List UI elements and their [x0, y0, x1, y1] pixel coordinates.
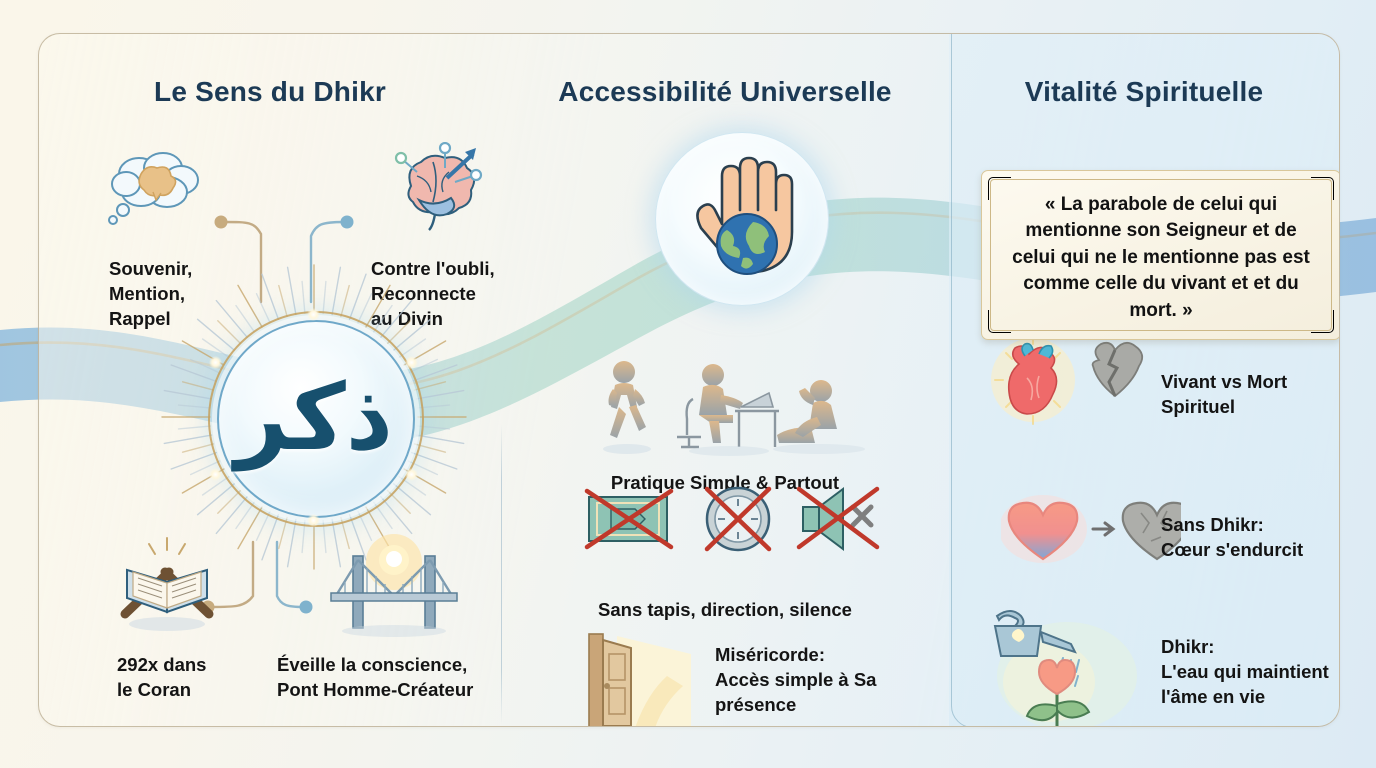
column-sens-du-dhikr: Le Sens du Dhikr — [39, 34, 501, 726]
quran-book-stand-icon — [115, 534, 219, 638]
item-label-sans-dhikr: Sans Dhikr: Cœur s'endurcit — [1161, 512, 1340, 562]
column-title-accessibilite: Accessibilité Universelle — [501, 76, 949, 108]
infographic-stage: Le Sens du Dhikr — [0, 0, 1376, 768]
arabic-calligraphy-text: ذكر — [217, 320, 411, 514]
item-label-eveille-conscience: Éveille la conscience, Pont Homme-Créate… — [277, 652, 497, 702]
open-door-light-icon — [583, 632, 703, 727]
crossed-out-prayer-rug-compass-speaker-icon — [581, 479, 891, 561]
brain-network-icon — [373, 142, 489, 234]
dhikr-calligraphy-medallion: ذكر — [189, 292, 439, 542]
three-people-postures-icon — [589, 359, 879, 457]
sparkle-icon — [307, 514, 320, 527]
sparkle-icon — [209, 356, 222, 369]
main-card: Le Sens du Dhikr — [38, 33, 1340, 727]
column-vitalite-spirituelle: Vitalité Spirituelle — [949, 34, 1339, 726]
bridge-lightbulb-icon — [329, 530, 459, 640]
quote-text: « La parabole de celui qui mentionne son… — [1002, 191, 1320, 325]
sparkle-icon — [405, 356, 418, 369]
quote-plaque: « La parabole de celui qui mentionne son… — [981, 170, 1340, 340]
living-heart-vs-broken-stone-heart-icon — [981, 334, 1171, 426]
heart-turning-to-stone-icon — [1001, 489, 1181, 567]
item-label-dhikr-eau: Dhikr: L'eau qui maintient l'âme en vie — [1161, 634, 1340, 709]
sparkle-icon — [209, 468, 222, 481]
item-label-vivant-vs-mort: Vivant vs Mort Spirituel — [1161, 369, 1340, 419]
watering-can-heart-plant-icon — [979, 602, 1149, 727]
column-title-vitalite: Vitalité Spirituelle — [949, 76, 1339, 108]
item-label-sans-tapis: Sans tapis, direction, silence — [501, 597, 949, 622]
column-title-sens-du-dhikr: Le Sens du Dhikr — [39, 76, 501, 108]
column-accessibilite-universelle: Accessibilité Universelle — [501, 34, 949, 726]
item-label-292x-coran: 292x dans le Coran — [117, 652, 267, 702]
hand-holding-globe-icon — [655, 132, 827, 304]
sparkle-icon — [405, 468, 418, 481]
thought-bubble-icon — [101, 146, 211, 232]
sparkle-icon — [307, 308, 320, 321]
item-label-misericorde: Miséricorde: Accès simple à Sa présence — [715, 642, 945, 717]
